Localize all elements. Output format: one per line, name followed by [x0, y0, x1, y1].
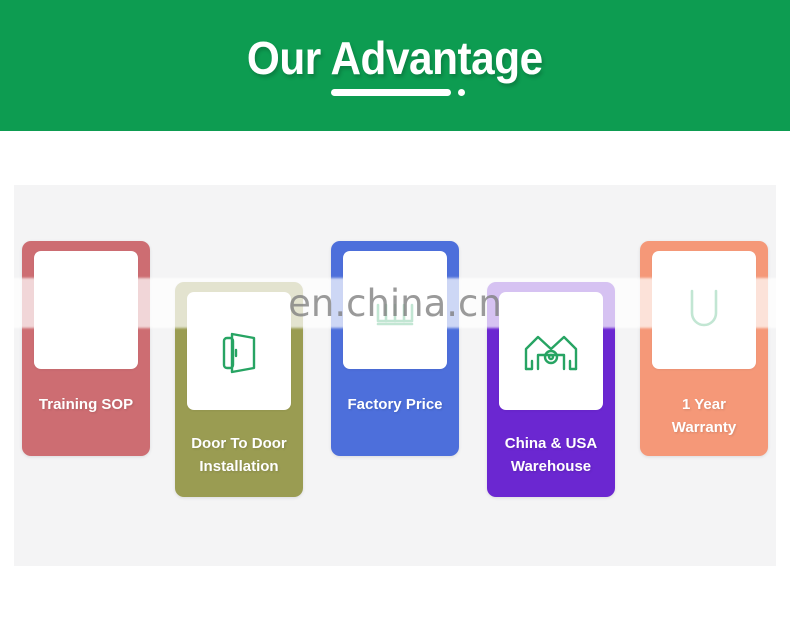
advantage-card-factory-price[interactable]: Factory Price [331, 241, 459, 456]
advantage-card-label: China & USA Warehouse [499, 432, 604, 479]
open-door-icon [210, 322, 268, 380]
advantage-card-1-year-warranty[interactable]: 1 Year Warranty [640, 241, 768, 456]
card-icon-container [34, 251, 138, 369]
dot-decoration [458, 89, 465, 96]
advantage-card-training-sop[interactable]: Training SOP [22, 241, 150, 456]
warranty-shield-icon [678, 281, 730, 339]
card-icon-container [652, 251, 756, 369]
advantage-card-door-to-door-installation[interactable]: Door To Door Installation [175, 282, 303, 497]
advantage-card-label: Training SOP [33, 393, 139, 416]
title-underline-decoration [331, 89, 465, 96]
advantage-card-label: Factory Price [341, 393, 448, 416]
card-icon-container [187, 292, 291, 410]
warehouse-gear-icon [520, 325, 582, 377]
price-tag-icon [366, 281, 424, 339]
banner-content: Our Advantage [0, 0, 790, 131]
advantage-card-label: Door To Door Installation [185, 432, 293, 479]
advantage-card-china-usa-warehouse[interactable]: China & USA Warehouse [487, 282, 615, 497]
horizontal-rule-decoration [331, 89, 451, 96]
advantage-card-label: 1 Year Warranty [666, 393, 742, 440]
advantage-card-row: Training SOP Door To Door Installation [14, 185, 776, 566]
blank-image-placeholder-icon [56, 280, 116, 340]
card-icon-container [499, 292, 603, 410]
advantages-panel: Training SOP Door To Door Installation [14, 185, 776, 566]
page-title: Our Advantage [247, 35, 543, 81]
page-banner: Our Advantage [0, 0, 790, 131]
card-icon-container [343, 251, 447, 369]
